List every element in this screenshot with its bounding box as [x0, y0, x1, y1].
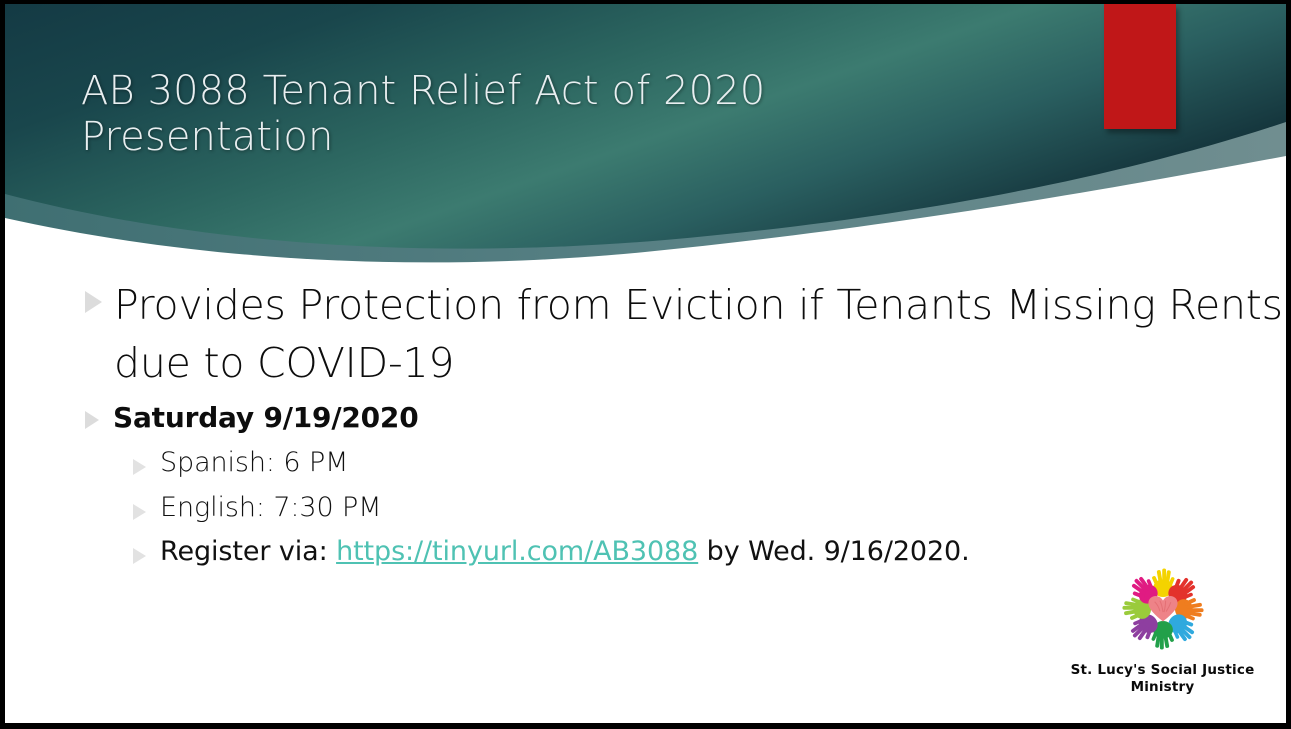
logo-caption-text: St. Lucy's Social Justice Ministry	[1065, 662, 1260, 695]
bullet-item-date: Saturday 9/19/2020	[5, 400, 1286, 435]
slide-body: Provides Protection from Eviction if Ten…	[5, 276, 1286, 569]
presentation-slide: AB 3088 Tenant Relief Act of 2020 Presen…	[0, 0, 1291, 729]
triangle-bullet-icon	[85, 291, 102, 313]
triangle-bullet-icon	[133, 548, 146, 564]
page-title: AB 3088 Tenant Relief Act of 2020 Presen…	[81, 68, 1041, 161]
register-suffix-text: by Wed. 9/16/2020.	[698, 536, 969, 567]
register-prefix-text: Register via:	[160, 536, 336, 567]
triangle-bullet-icon	[133, 504, 146, 520]
bullet-spanish-text: Spanish: 6 PM	[160, 447, 348, 479]
triangle-bullet-icon	[85, 411, 99, 429]
bullet-item-spanish: Spanish: 6 PM	[5, 447, 1286, 479]
red-accent-rectangle	[1104, 4, 1176, 129]
circle-of-hands-heart-icon	[1111, 557, 1215, 661]
bullet-item-main: Provides Protection from Eviction if Ten…	[5, 276, 1286, 392]
registration-link[interactable]: https://tinyurl.com/AB3088	[336, 536, 698, 567]
triangle-bullet-icon	[133, 459, 146, 475]
bullet-english-text: English: 7:30 PM	[160, 492, 381, 524]
bullet-item-english: English: 7:30 PM	[5, 492, 1286, 524]
bullet-register-text: Register via: https://tinyurl.com/AB3088…	[160, 536, 970, 568]
organization-logo: St. Lucy's Social Justice Ministry	[1065, 557, 1260, 695]
bullet-date-text: Saturday 9/19/2020	[113, 400, 419, 435]
bullet-main-text: Provides Protection from Eviction if Ten…	[114, 276, 1286, 392]
